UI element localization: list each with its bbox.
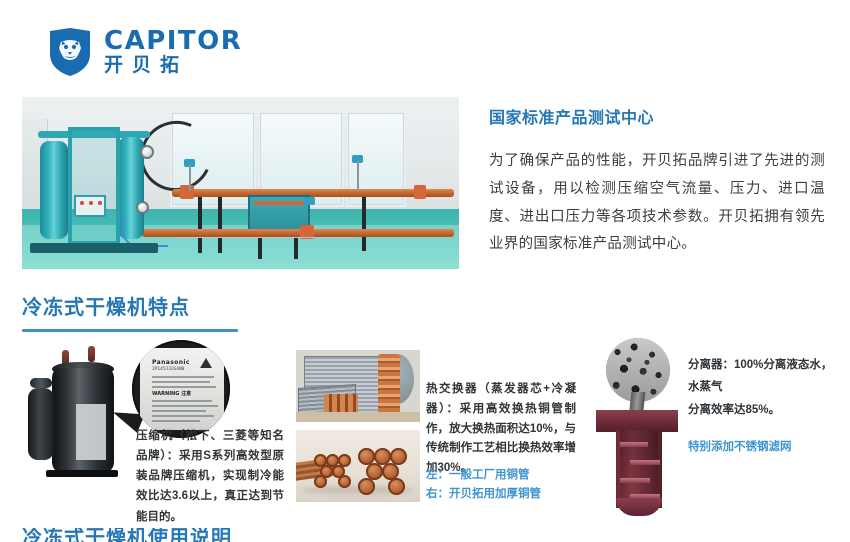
separator-highlight: 特别添加不锈钢滤网 <box>688 438 848 454</box>
photo-dryer-base <box>30 243 158 253</box>
intro-body: 为了确保产品的性能，开贝拓品牌引进了先进的测试设备，用以检测压缩空气流量、压力、… <box>489 148 825 259</box>
photo-valve-stem <box>189 165 191 191</box>
brochure-page: CAPITOR 开贝拓 <box>0 0 850 542</box>
section-header: 冷冻式干燥机特点 <box>22 291 262 332</box>
photo-pipe-fitting <box>180 185 194 199</box>
warning-triangle-icon <box>200 358 212 368</box>
compressor-accumulator <box>28 388 54 460</box>
photo-pressure-gauge <box>136 201 149 214</box>
copper-pipe-comparison-photo <box>296 430 420 502</box>
compressor-description: 压缩机（松下、三菱等知名品牌）：采用S系列高效型原装品牌压缩机，实现制冷能效比达… <box>136 426 284 527</box>
brand-latin-name: CAPITOR <box>104 28 242 54</box>
photo-stand-leg <box>198 197 202 253</box>
brand-wordmark: CAPITOR 开贝拓 <box>104 28 242 77</box>
photo-dryer-control-panel <box>74 195 106 217</box>
separator-photo <box>596 338 678 516</box>
photo-indicator-light <box>80 201 84 205</box>
separator-line-2: 水蒸气 <box>688 376 844 398</box>
photo-pressure-gauge <box>140 145 154 159</box>
separator-baffle <box>620 442 648 447</box>
compressor-model-text: 2P145J32GAN0 <box>152 367 185 372</box>
factory-test-center-photo <box>22 97 459 269</box>
pipe-caption-left: 左：一般工厂用铜管 <box>426 466 586 485</box>
heat-exchanger-coil-photo <box>296 350 420 422</box>
heat-exchanger-description: 热交换器（蒸发器芯+冷凝器）：采用高效换热铜管制作，放大换热面积达10%，与传统… <box>426 380 576 479</box>
compressor-nameplate <box>76 404 106 460</box>
brand-logo: CAPITOR 开贝拓 <box>48 28 242 77</box>
compressor-base <box>46 470 118 477</box>
separator-line-3: 分离效率达85%。 <box>688 399 844 421</box>
separator-description: 分离器：100%分离液态水， 水蒸气 分离效率达85%。 <box>688 354 844 421</box>
feature-row: Panasonic 2P145J32GAN0 WARNING 注意 压缩机（松下… <box>0 338 850 528</box>
photo-indicator-light <box>89 201 93 205</box>
photo-control-box-stripe <box>254 201 304 205</box>
separator-baffle <box>620 478 650 483</box>
photo-dryer-tank <box>40 141 68 239</box>
separator-inlet-pipe <box>596 410 678 432</box>
photo-valve <box>304 197 315 205</box>
compressor-label-detail: Panasonic 2P145J32GAN0 WARNING 注意 <box>140 348 224 430</box>
photo-stand-leg <box>218 197 222 253</box>
section-underline <box>22 329 238 332</box>
photo-table-surface <box>296 412 420 422</box>
compressor-brand-text: Panasonic <box>152 359 190 366</box>
photo-wire <box>174 237 354 238</box>
photo-copper-pipe <box>142 229 454 237</box>
photo-dryer-frame <box>68 127 120 245</box>
photo-stand-leg <box>362 197 366 251</box>
pipe-comparison-captions: 左：一般工厂用铜管 右：开贝拓用加厚铜管 <box>426 466 586 504</box>
separator-line-1: 分离器：100%分离液态水， <box>688 354 844 376</box>
photo-valve-stem <box>357 161 359 191</box>
separator-bottom <box>616 498 662 516</box>
intro-block: 国家标准产品测试中心 为了确保产品的性能，开贝拓品牌引进了先进的测试设备，用以检… <box>489 104 825 259</box>
intro-title: 国家标准产品测试中心 <box>489 104 825 128</box>
photo-pipe-fitting <box>414 185 426 199</box>
next-section-title: 冷冻式干燥机使用说明 <box>22 528 282 542</box>
photo-copper-pipe <box>172 189 454 197</box>
compressor-accumulator-cap <box>30 378 52 388</box>
photo-copper-coil <box>378 354 400 418</box>
compressor-port <box>88 346 95 362</box>
shield-lion-icon <box>48 28 92 76</box>
compressor-label-magnifier: Panasonic 2P145J32GAN0 WARNING 注意 <box>132 340 230 438</box>
compressor-warning-text: WARNING 注意 <box>152 390 191 397</box>
brand-chinese-name: 开贝拓 <box>104 56 242 77</box>
separator-baffle <box>630 460 660 465</box>
photo-indicator-light <box>98 201 102 205</box>
section-title: 冷冻式干燥机特点 <box>22 291 262 320</box>
pipe-caption-right: 右：开贝拓用加厚铜管 <box>426 485 586 504</box>
